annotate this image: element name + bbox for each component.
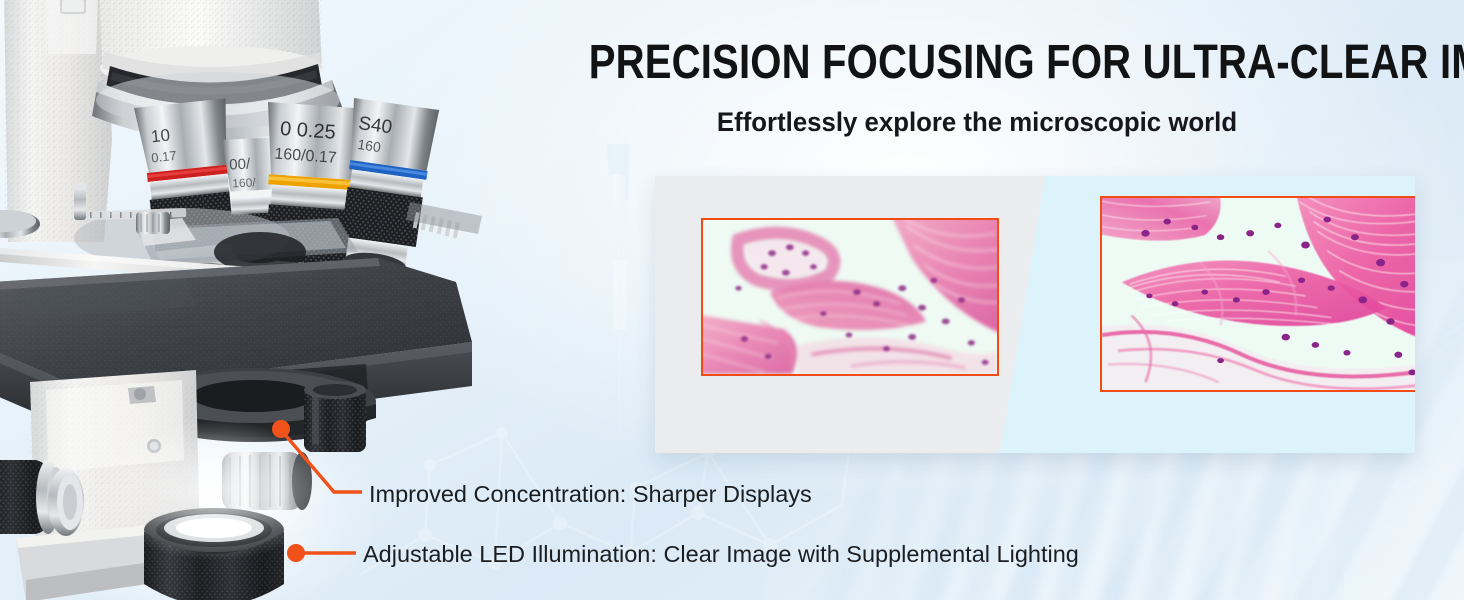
callout-text-concentration: Improved Concentration: Sharper Displays (369, 481, 812, 508)
callout-marker-concentration (272, 420, 290, 438)
callout-marker-led (287, 544, 305, 562)
callout-text-led: Adjustable LED Illumination: Clear Image… (363, 541, 1079, 568)
callout-line-concentration (281, 430, 362, 492)
callout-leader-lines (0, 0, 1464, 600)
